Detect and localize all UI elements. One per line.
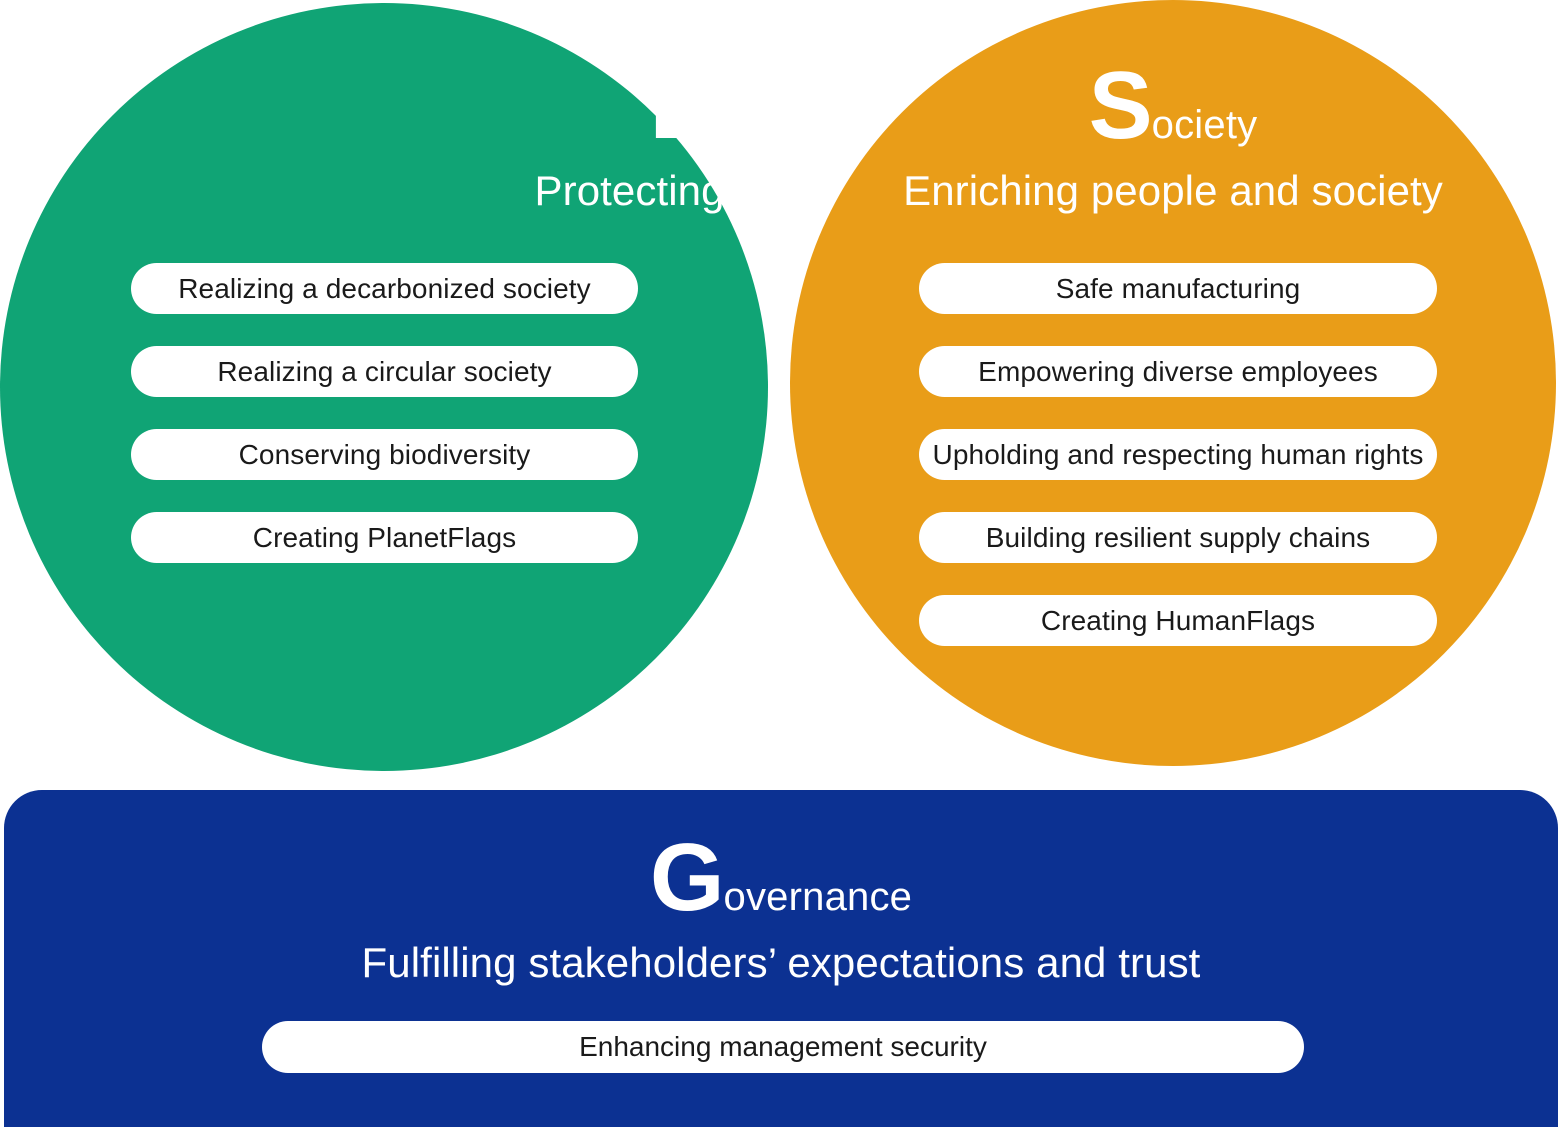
- society-item[interactable]: Safe manufacturing: [919, 263, 1437, 314]
- environment-item[interactable]: Realizing a circular society: [131, 346, 638, 397]
- governance-tagline: Fulfilling stakeholders’ expectations an…: [0, 942, 1562, 984]
- society-item-list: Safe manufacturing Empowering diverse em…: [919, 263, 1437, 646]
- environment-item[interactable]: Realizing a decarbonized society: [131, 263, 638, 314]
- environment-item[interactable]: Creating PlanetFlags: [131, 512, 638, 563]
- esg-diagram-canvas: Environment Protecting the future Earth …: [0, 0, 1562, 1127]
- society-heading: Society: [790, 58, 1556, 154]
- environment-item-list: Realizing a decarbonized society Realizi…: [131, 263, 638, 563]
- society-heading-rest: ociety: [1152, 103, 1258, 147]
- governance-heading: Governance: [0, 830, 1562, 926]
- society-item[interactable]: Upholding and respecting human rights: [919, 429, 1437, 480]
- society-item[interactable]: Creating HumanFlags: [919, 595, 1437, 646]
- governance-heading-rest: overnance: [724, 875, 913, 919]
- society-initial-letter: S: [1089, 52, 1152, 159]
- society-tagline: Enriching people and society: [790, 170, 1556, 212]
- society-item[interactable]: Building resilient supply chains: [919, 512, 1437, 563]
- governance-initial-letter: G: [650, 824, 724, 931]
- environment-initial-letter: E: [650, 52, 713, 159]
- governance-item[interactable]: Enhancing management security: [262, 1021, 1304, 1073]
- society-item[interactable]: Empowering diverse employees: [919, 346, 1437, 397]
- environment-item[interactable]: Conserving biodiversity: [131, 429, 638, 480]
